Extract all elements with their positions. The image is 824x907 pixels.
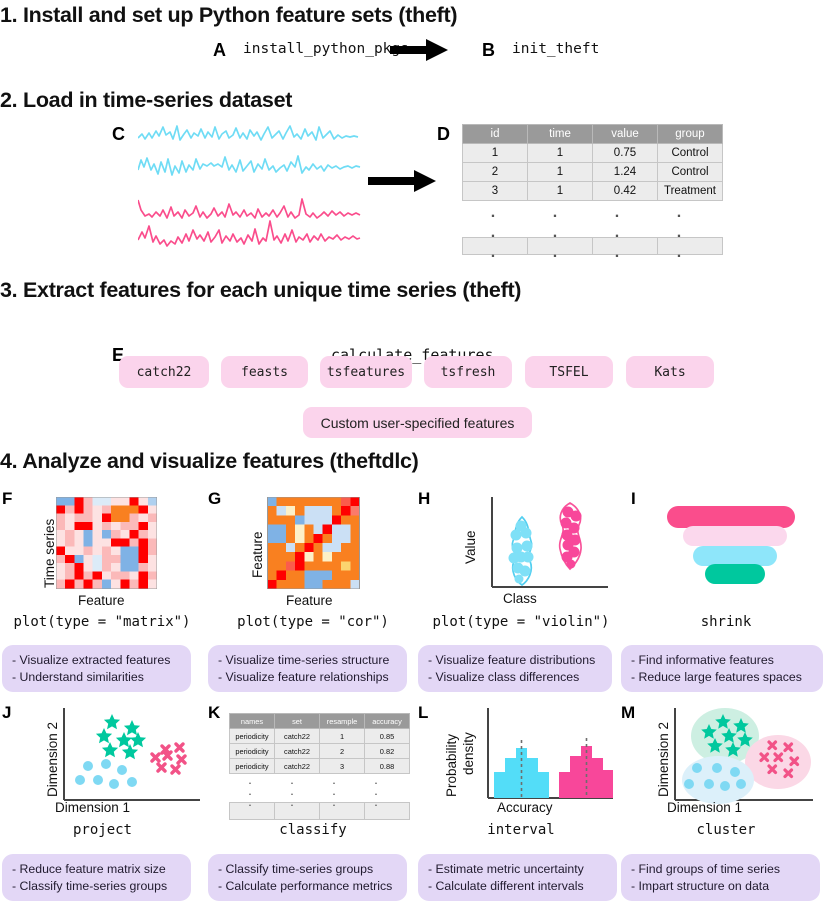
table-row: 1 1 0.75 Control bbox=[463, 144, 723, 163]
classify-table-grid: names set resample accuracy periodicity … bbox=[229, 713, 410, 774]
dot: . bbox=[229, 787, 271, 797]
panel-G-notes: - Visualize time-series structure - Visu… bbox=[208, 645, 407, 692]
panel-I-notes: - Find informative features - Reduce lar… bbox=[621, 645, 823, 692]
note-line: - Visualize feature relationships bbox=[218, 669, 397, 686]
project-cross-group bbox=[152, 744, 185, 773]
panel-J-caption: project bbox=[10, 822, 195, 838]
panel-G-xlabel: Feature bbox=[286, 593, 333, 608]
dot: . bbox=[462, 204, 524, 222]
dot: . bbox=[586, 224, 648, 242]
note-line: - Calculate different intervals bbox=[428, 878, 607, 895]
init-theft-label: init_theft bbox=[512, 41, 599, 57]
panel-F-caption: plot(type = "matrix") bbox=[12, 614, 192, 630]
panel-J-xlabel: Dimension 1 bbox=[55, 800, 130, 815]
feature-set-tsfeatures[interactable]: tsfeatures bbox=[320, 356, 412, 388]
section-heading-2: 2. Load in time-series dataset bbox=[0, 88, 292, 113]
dot: . bbox=[271, 798, 313, 808]
note-line: - Visualize feature distributions bbox=[428, 652, 602, 669]
panel-letter-I: I bbox=[631, 489, 636, 509]
dot: . bbox=[524, 224, 586, 242]
panel-letter-M: M bbox=[621, 703, 635, 723]
dot: . bbox=[355, 787, 397, 797]
col-id: id bbox=[463, 125, 528, 144]
dataset-table: id time value group 1 1 0.75 Control 2 1… bbox=[462, 124, 710, 255]
arrow-right-icon-2 bbox=[368, 170, 438, 192]
shrink-bar-1 bbox=[667, 506, 795, 528]
cell-group: Treatment bbox=[658, 182, 723, 201]
panel-M-caption: cluster bbox=[646, 822, 806, 838]
section-heading-4: 4. Analyze and visualize features (theft… bbox=[0, 449, 419, 474]
panel-F-xlabel: Feature bbox=[78, 593, 125, 608]
panel-M-notes: - Find groups of time series - Impart st… bbox=[621, 854, 820, 901]
time-series-traces bbox=[138, 122, 363, 250]
cluster-halo-cross bbox=[745, 735, 811, 789]
shrink-bar-2 bbox=[683, 526, 787, 546]
note-line: - Classify time-series groups bbox=[12, 878, 181, 895]
panel-letter-A: A bbox=[213, 40, 226, 61]
table-row: periodicity catch22 3 0.88 bbox=[230, 759, 410, 774]
cell-set: catch22 bbox=[275, 729, 320, 744]
dot: . bbox=[229, 798, 271, 808]
col-set: set bbox=[275, 714, 320, 729]
interval-histogram bbox=[470, 706, 615, 811]
cell-value: 1.24 bbox=[593, 163, 658, 182]
violin-plot bbox=[470, 495, 610, 600]
table-header-row: id time value group bbox=[463, 125, 723, 144]
cell-group: Control bbox=[658, 144, 723, 163]
dot: . bbox=[355, 798, 397, 808]
dot: . bbox=[229, 776, 271, 786]
panel-letter-G: G bbox=[208, 489, 221, 509]
cell-id: 1 bbox=[463, 144, 528, 163]
dot: . bbox=[355, 776, 397, 786]
cell-group: Control bbox=[658, 163, 723, 182]
panel-K-notes: - Classify time-series groups - Calculat… bbox=[208, 854, 407, 901]
panel-L-ylabel-line1: Probability bbox=[444, 734, 459, 797]
dot: . bbox=[524, 204, 586, 222]
col-time: time bbox=[528, 125, 593, 144]
dot: . bbox=[271, 776, 313, 786]
col-value: value bbox=[593, 125, 658, 144]
section-heading-3: 3. Extract features for each unique time… bbox=[0, 278, 521, 303]
dot: . bbox=[313, 787, 355, 797]
cell-resample: 1 bbox=[320, 729, 365, 744]
feature-set-kats[interactable]: Kats bbox=[626, 356, 714, 388]
arrow-right-icon bbox=[390, 39, 450, 61]
cell-resample: 3 bbox=[320, 759, 365, 774]
feature-set-tsfresh[interactable]: tsfresh bbox=[424, 356, 512, 388]
col-names: names bbox=[230, 714, 275, 729]
matrix-heatmap bbox=[56, 497, 157, 589]
note-line: - Impart structure on data bbox=[631, 878, 810, 895]
shrink-bar-4 bbox=[705, 564, 765, 584]
col-group: group bbox=[658, 125, 723, 144]
note-line: - Visualize class differences bbox=[428, 669, 602, 686]
classify-table-ellipsis: . . . . . . . . . . . . bbox=[229, 774, 397, 802]
panel-M-xlabel: Dimension 1 bbox=[667, 800, 742, 815]
panel-letter-C: C bbox=[112, 124, 125, 145]
table-row: 3 1 0.42 Treatment bbox=[463, 182, 723, 201]
cell-value: 0.75 bbox=[593, 144, 658, 163]
panel-letter-H: H bbox=[418, 489, 430, 509]
panel-F-ylabel: Time series bbox=[42, 519, 57, 588]
section-heading-1: 1. Install and set up Python feature set… bbox=[0, 3, 457, 28]
install-python-pkgs-label: install_python_pkgs bbox=[243, 41, 409, 57]
cell-time: 1 bbox=[528, 163, 593, 182]
figure-root: 1. Install and set up Python feature set… bbox=[0, 0, 824, 907]
cluster-scatter bbox=[663, 706, 815, 811]
cell-accuracy: 0.82 bbox=[365, 744, 410, 759]
project-star-group bbox=[96, 714, 146, 759]
project-dot-group bbox=[75, 759, 137, 789]
cell-time: 1 bbox=[528, 144, 593, 163]
feature-set-tsfel[interactable]: TSFEL bbox=[525, 356, 613, 388]
shrink-bar-3 bbox=[693, 546, 777, 566]
dot: . bbox=[586, 244, 648, 262]
panel-G-caption: plot(type = "cor") bbox=[228, 614, 398, 630]
project-scatter bbox=[52, 706, 202, 811]
note-line: - Reduce feature matrix size bbox=[12, 861, 181, 878]
cell-id: 3 bbox=[463, 182, 528, 201]
dot: . bbox=[462, 244, 524, 262]
panel-letter-K: K bbox=[208, 703, 220, 723]
dot: . bbox=[648, 224, 710, 242]
note-line: - Visualize extracted features bbox=[12, 652, 181, 669]
cell-value: 0.42 bbox=[593, 182, 658, 201]
feature-set-feasts[interactable]: feasts bbox=[221, 356, 308, 388]
cell-resample: 2 bbox=[320, 744, 365, 759]
panel-F-notes: - Visualize extracted features - Underst… bbox=[2, 645, 191, 692]
panel-letter-L: L bbox=[418, 703, 428, 723]
note-line: - Classify time-series groups bbox=[218, 861, 397, 878]
cell-time: 1 bbox=[528, 182, 593, 201]
note-line: - Reduce large features spaces bbox=[631, 669, 813, 686]
cell-names: periodicity bbox=[230, 729, 275, 744]
panel-L-caption: interval bbox=[430, 822, 612, 838]
feature-set-catch22[interactable]: catch22 bbox=[119, 356, 209, 388]
cell-id: 2 bbox=[463, 163, 528, 182]
dot: . bbox=[524, 244, 586, 262]
table-header-row: names set resample accuracy bbox=[230, 714, 410, 729]
cell-set: catch22 bbox=[275, 759, 320, 774]
dot: . bbox=[313, 776, 355, 786]
panel-letter-F: F bbox=[2, 489, 12, 509]
panel-H-notes: - Visualize feature distributions - Visu… bbox=[418, 645, 612, 692]
classify-table: names set resample accuracy periodicity … bbox=[229, 713, 397, 820]
interval-pink-bars bbox=[559, 746, 613, 798]
dataset-table-grid: id time value group 1 1 0.75 Control 2 1… bbox=[462, 124, 723, 201]
dot: . bbox=[462, 224, 524, 242]
cell-set: catch22 bbox=[275, 744, 320, 759]
panel-letter-D: D bbox=[437, 124, 450, 145]
note-line: - Calculate performance metrics bbox=[218, 878, 397, 895]
panel-L-notes: - Estimate metric uncertainty - Calculat… bbox=[418, 854, 617, 901]
note-line: - Estimate metric uncertainty bbox=[428, 861, 607, 878]
note-line: - Visualize time-series structure bbox=[218, 652, 397, 669]
cell-accuracy: 0.88 bbox=[365, 759, 410, 774]
custom-features-pill[interactable]: Custom user-specified features bbox=[303, 407, 532, 438]
correlation-heatmap bbox=[263, 497, 364, 589]
dot: . bbox=[313, 798, 355, 808]
note-line: - Find informative features bbox=[631, 652, 813, 669]
panel-letter-J: J bbox=[2, 703, 11, 723]
dot: . bbox=[586, 204, 648, 222]
panel-L-xlabel: Accuracy bbox=[497, 800, 553, 815]
panel-K-caption: classify bbox=[228, 822, 398, 838]
dot: . bbox=[271, 787, 313, 797]
panel-I-caption: shrink bbox=[646, 614, 806, 630]
panel-H-xlabel: Class bbox=[503, 591, 537, 606]
col-accuracy: accuracy bbox=[365, 714, 410, 729]
note-line: - Find groups of time series bbox=[631, 861, 810, 878]
cell-names: periodicity bbox=[230, 759, 275, 774]
dot: . bbox=[648, 244, 710, 262]
table-row: periodicity catch22 2 0.82 bbox=[230, 744, 410, 759]
table-ellipsis: . . . . . . . . . . . . bbox=[462, 201, 710, 237]
dot: . bbox=[648, 204, 710, 222]
cell-accuracy: 0.85 bbox=[365, 729, 410, 744]
table-row: 2 1 1.24 Control bbox=[463, 163, 723, 182]
panel-J-notes: - Reduce feature matrix size - Classify … bbox=[2, 854, 191, 901]
cell-names: periodicity bbox=[230, 744, 275, 759]
table-row: periodicity catch22 1 0.85 bbox=[230, 729, 410, 744]
col-resample: resample bbox=[320, 714, 365, 729]
panel-H-caption: plot(type = "violin") bbox=[430, 614, 612, 630]
shrink-bars bbox=[645, 500, 810, 590]
note-line: - Understand similarities bbox=[12, 669, 181, 686]
panel-letter-B: B bbox=[482, 40, 495, 61]
